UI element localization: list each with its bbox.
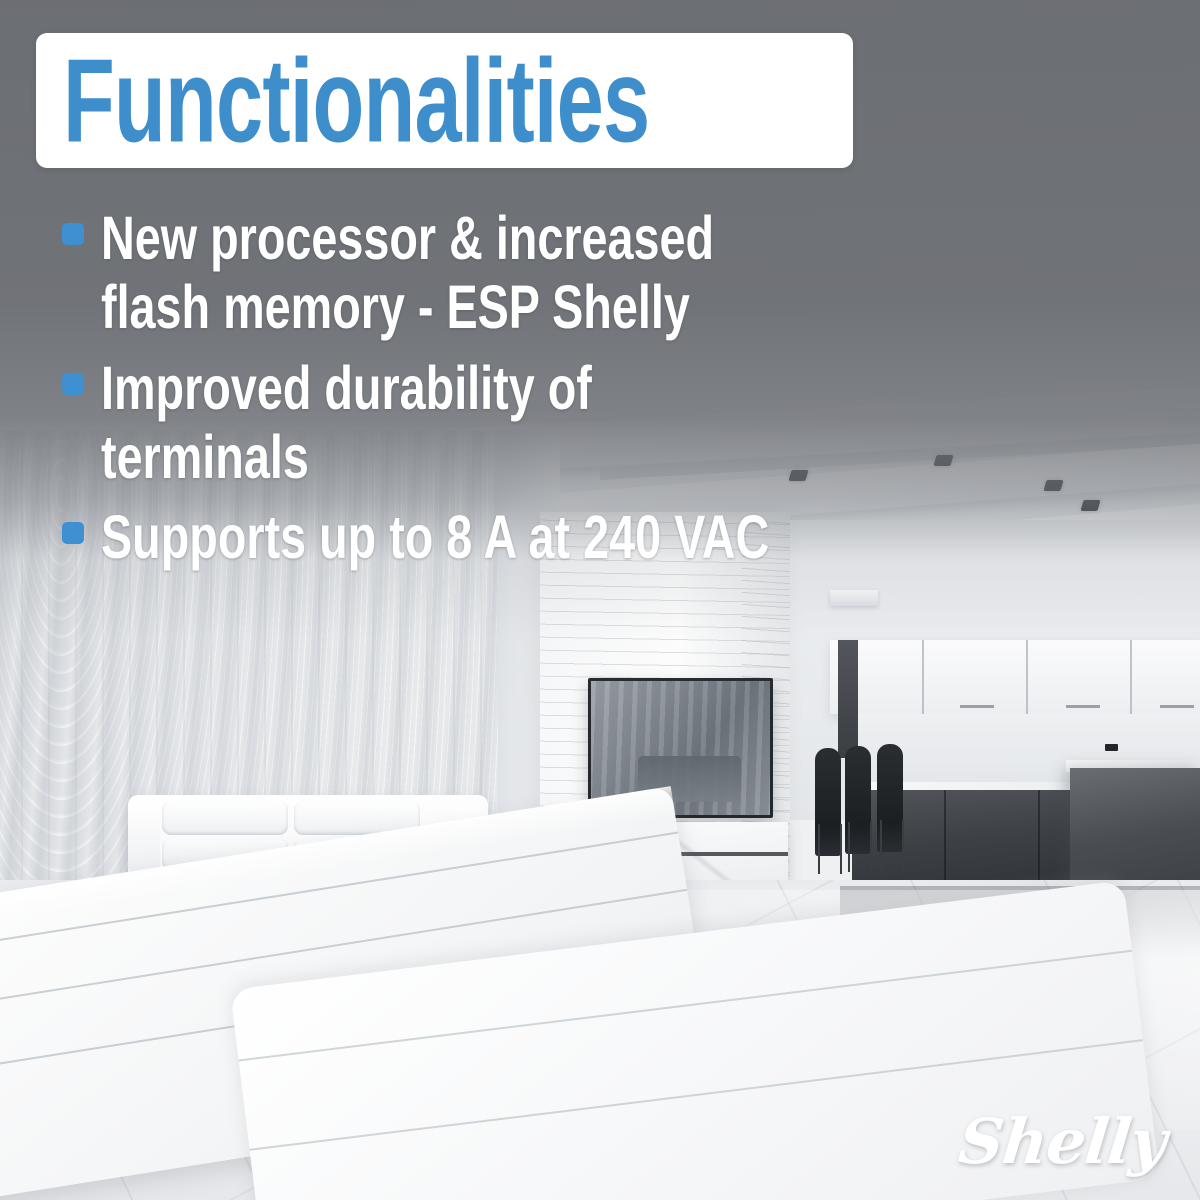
gradient-overlay xyxy=(0,0,1200,1200)
feature-label: Supports up to 8 A at 240 VAC xyxy=(101,504,807,573)
feature-list: New processor & increased flash memory -… xyxy=(62,205,962,590)
list-item: New processor & increased flash memory -… xyxy=(62,205,962,333)
list-item: Improved durability of terminals xyxy=(62,355,962,483)
marketing-graphic: Functionalities New processor & increase… xyxy=(0,0,1200,1200)
list-item: Supports up to 8 A at 240 VAC xyxy=(62,504,962,568)
title-banner: Functionalities xyxy=(36,33,853,168)
shelly-logo: Shelly xyxy=(955,1105,1169,1178)
bullet-square-icon xyxy=(62,373,84,395)
feature-label: Improved durability of terminals xyxy=(101,355,807,493)
feature-label: New processor & increased flash memory -… xyxy=(101,205,807,343)
page-title: Functionalities xyxy=(63,41,649,160)
bullet-square-icon xyxy=(62,223,84,245)
bullet-square-icon xyxy=(62,522,84,544)
